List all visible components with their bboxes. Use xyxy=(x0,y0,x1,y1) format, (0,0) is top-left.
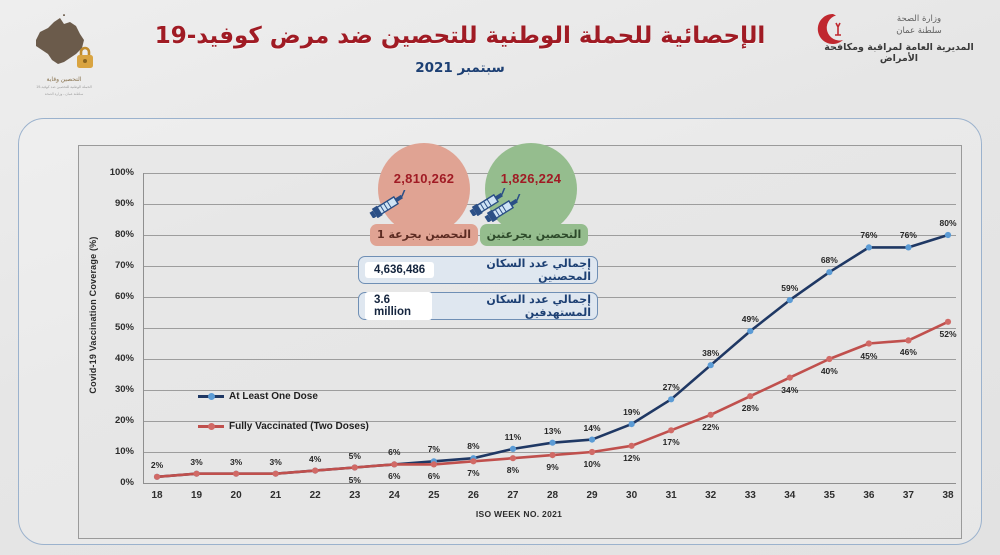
data-point-label: 76% xyxy=(852,230,886,240)
slide-root: التحصين وقاية الحملة الوطنية للتحصين ضد … xyxy=(0,0,1000,555)
series-marker xyxy=(193,471,199,477)
series-marker xyxy=(787,297,793,303)
campaign-logo-tagline: الحملة الوطنية للتحصين ضد كوفيد-19 xyxy=(14,85,114,89)
ministry-line-2: سلطنة عمان xyxy=(858,26,980,36)
series-marker xyxy=(510,455,516,461)
series-marker xyxy=(945,319,951,325)
legend-item-two-doses[interactable]: Fully Vaccinated (Two Doses) xyxy=(198,418,369,435)
data-point-label: 34% xyxy=(773,385,807,395)
series-marker xyxy=(668,396,674,402)
data-point-label: 40% xyxy=(812,366,846,376)
legend-item-one-dose[interactable]: At Least One Dose xyxy=(198,388,369,405)
series-marker xyxy=(589,449,595,455)
data-point-label: 22% xyxy=(694,422,728,432)
bubble-one-dose: 2,810,262 xyxy=(378,143,470,235)
info-box-target-population: إجمالي عدد السكان المستهدفين 3.6 million xyxy=(358,292,598,320)
info-label-vaccinated-total: إجمالي عدد السكان المحصنين xyxy=(440,257,591,283)
data-point-label: 6% xyxy=(377,471,411,481)
data-point-label: 19% xyxy=(615,407,649,417)
data-point-label: 14% xyxy=(575,423,609,433)
bubble-one-dose-label: التحصين بجرعة 1 xyxy=(377,228,471,241)
series-marker xyxy=(905,244,911,250)
series-marker xyxy=(787,375,793,381)
data-point-label: 9% xyxy=(536,462,570,472)
data-point-label: 17% xyxy=(654,437,688,447)
bubble-two-doses-label: التحصين بجرعتين xyxy=(487,228,582,241)
series-marker xyxy=(391,461,397,467)
series-marker xyxy=(708,412,714,418)
lock-icon xyxy=(72,44,98,70)
series-marker xyxy=(708,362,714,368)
data-point-label: 28% xyxy=(733,403,767,413)
data-point-label: 49% xyxy=(733,314,767,324)
data-point-label: 46% xyxy=(891,347,925,357)
data-point-label: 52% xyxy=(931,329,965,339)
series-marker xyxy=(312,468,318,474)
series-marker xyxy=(352,464,358,470)
bubble-one-dose-label-tag: التحصين بجرعة 1 xyxy=(370,224,478,246)
legend-label-one-dose: At Least One Dose xyxy=(229,391,318,402)
page-subtitle: سبتمبر 2021 xyxy=(150,60,770,76)
series-marker xyxy=(510,446,516,452)
series-marker xyxy=(629,421,635,427)
legend-swatch-two-doses xyxy=(198,425,224,428)
campaign-logo-tagline-2: سلطنة عمان ـ وزارة الصحة xyxy=(14,92,114,96)
page-title: الإحصائية للحملة الوطنية للتحصين ضد مرض … xyxy=(150,22,770,51)
data-point-label: 3% xyxy=(259,457,293,467)
data-point-label: 6% xyxy=(377,447,411,457)
bubble-two-doses-value: 1,826,224 xyxy=(485,171,577,186)
data-point-label: 59% xyxy=(773,283,807,293)
series-marker xyxy=(747,393,753,399)
info-label-target-population: إجمالي عدد السكان المستهدفين xyxy=(438,293,591,319)
series-marker xyxy=(826,269,832,275)
series-marker xyxy=(866,340,872,346)
series-marker xyxy=(905,337,911,343)
bubble-two-doses-label-tag: التحصين بجرعتين xyxy=(480,224,588,246)
data-point-label: 76% xyxy=(891,230,925,240)
syringe-icon-two-doses-b xyxy=(483,194,527,222)
data-point-label: 3% xyxy=(219,457,253,467)
data-point-label: 2% xyxy=(140,460,174,470)
data-point-label: 6% xyxy=(417,471,451,481)
campaign-logo: التحصين وقاية الحملة الوطنية للتحصين ضد … xyxy=(14,6,114,98)
series-marker xyxy=(549,440,555,446)
series-marker xyxy=(826,356,832,362)
data-point-label: 5% xyxy=(338,451,372,461)
ministry-line-1: وزارة الصحة xyxy=(858,14,980,24)
data-point-label: 38% xyxy=(694,348,728,358)
campaign-logo-name: التحصين وقاية xyxy=(14,76,114,83)
series-marker xyxy=(629,443,635,449)
series-marker xyxy=(431,461,437,467)
info-box-vaccinated-total: إجمالي عدد السكان المحصنين 4,636,486 xyxy=(358,256,598,284)
data-point-label: 10% xyxy=(575,459,609,469)
data-point-label: 3% xyxy=(180,457,214,467)
info-value-vaccinated-total: 4,636,486 xyxy=(365,262,434,278)
series-marker xyxy=(549,452,555,458)
ministry-emblem-icon xyxy=(816,12,850,46)
header: التحصين وقاية الحملة الوطنية للتحصين ضد … xyxy=(0,0,1000,110)
info-value-target-population: 3.6 million xyxy=(365,292,432,320)
series-marker xyxy=(747,328,753,334)
data-point-label: 4% xyxy=(298,454,332,464)
series-marker xyxy=(866,244,872,250)
series-marker xyxy=(945,232,951,238)
data-point-label: 68% xyxy=(812,255,846,265)
ministry-line-3: المديرية العامة لمراقبة ومكافحة الأمراض xyxy=(808,42,990,64)
series-marker xyxy=(273,471,279,477)
data-point-label: 45% xyxy=(852,351,886,361)
data-point-label: 7% xyxy=(417,444,451,454)
series-marker xyxy=(154,474,160,480)
series-marker xyxy=(470,458,476,464)
data-point-label: 7% xyxy=(456,468,490,478)
bubble-one-dose-value: 2,810,262 xyxy=(378,171,470,186)
data-point-label: 5% xyxy=(338,475,372,485)
data-point-label: 8% xyxy=(456,441,490,451)
series-marker xyxy=(668,427,674,433)
ministry-logo: وزارة الصحة سلطنة عمان المديرية العامة ل… xyxy=(808,8,990,66)
chart-legend: At Least One Dose Fully Vaccinated (Two … xyxy=(198,388,369,448)
legend-label-two-doses: Fully Vaccinated (Two Doses) xyxy=(229,421,369,432)
data-point-label: 27% xyxy=(654,382,688,392)
data-point-label: 80% xyxy=(931,218,965,228)
legend-swatch-one-dose xyxy=(198,395,224,398)
data-point-label: 8% xyxy=(496,465,530,475)
series-marker xyxy=(233,471,239,477)
syringe-icon-one-dose xyxy=(368,190,412,218)
data-point-label: 11% xyxy=(496,432,530,442)
series-marker xyxy=(589,437,595,443)
title-block: الإحصائية للحملة الوطنية للتحصين ضد مرض … xyxy=(150,22,770,76)
data-point-label: 13% xyxy=(536,426,570,436)
data-point-label: 12% xyxy=(615,453,649,463)
